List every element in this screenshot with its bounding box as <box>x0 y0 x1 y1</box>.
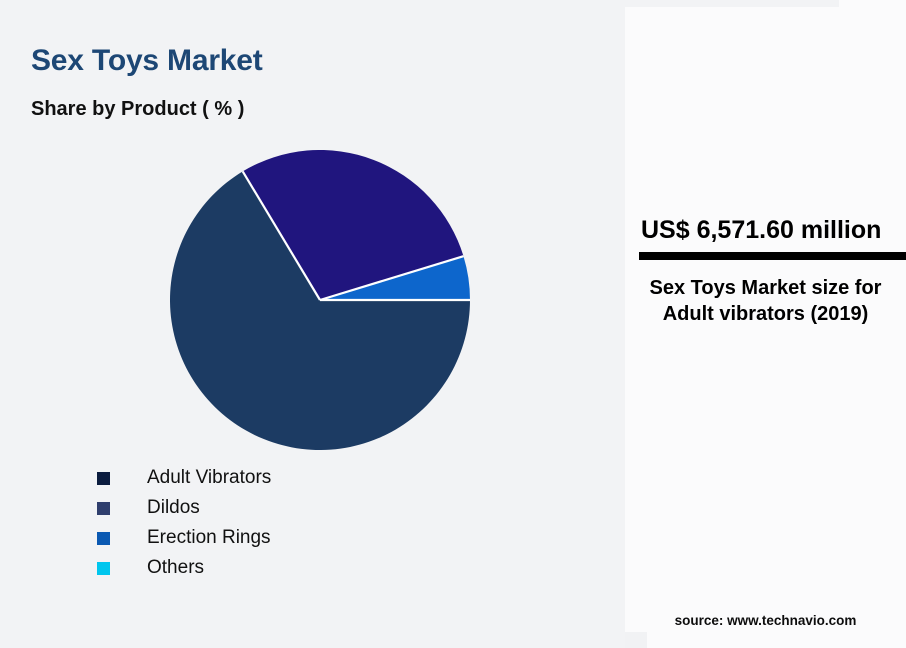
kpi-value: US$ 6,571.60 million <box>625 212 906 248</box>
legend-label-dildos: Dildos <box>147 497 200 519</box>
kpi-caption: Sex Toys Market size for Adult vibrators… <box>625 276 906 327</box>
source-attribution: source: www.technavio.com <box>625 613 906 628</box>
kpi-panel: US$ 6,571.60 million Sex Toys Market siz… <box>625 0 906 648</box>
legend-label-erection-rings: Erection Rings <box>147 527 271 549</box>
legend-swatch-adult-vibrators <box>97 472 110 485</box>
legend-label-others: Others <box>147 557 204 579</box>
kpi-underline-rule <box>639 252 906 260</box>
legend-swatch-dildos <box>97 502 110 515</box>
legend-item-others[interactable]: Others <box>97 553 577 583</box>
kpi-block: US$ 6,571.60 million Sex Toys Market siz… <box>625 212 906 327</box>
chart-panel: Sex Toys Market Share by Product ( % ) A… <box>0 0 624 648</box>
panel-bottom-strip <box>625 632 647 648</box>
chart-legend: Adult Vibrators Dildos Erection Rings Ot… <box>97 463 577 583</box>
chart-subtitle: Share by Product ( % ) <box>31 98 244 121</box>
infographic-canvas: Sex Toys Market Share by Product ( % ) A… <box>0 0 906 648</box>
legend-item-adult-vibrators[interactable]: Adult Vibrators <box>97 463 577 493</box>
legend-item-erection-rings[interactable]: Erection Rings <box>97 523 577 553</box>
legend-swatch-others <box>97 562 110 575</box>
page-title: Sex Toys Market <box>31 44 263 78</box>
pie-chart <box>170 150 470 450</box>
legend-label-adult-vibrators: Adult Vibrators <box>147 467 271 489</box>
legend-item-dildos[interactable]: Dildos <box>97 493 577 523</box>
panel-top-strip <box>625 0 839 7</box>
legend-swatch-erection-rings <box>97 532 110 545</box>
pie-chart-svg <box>170 150 470 450</box>
